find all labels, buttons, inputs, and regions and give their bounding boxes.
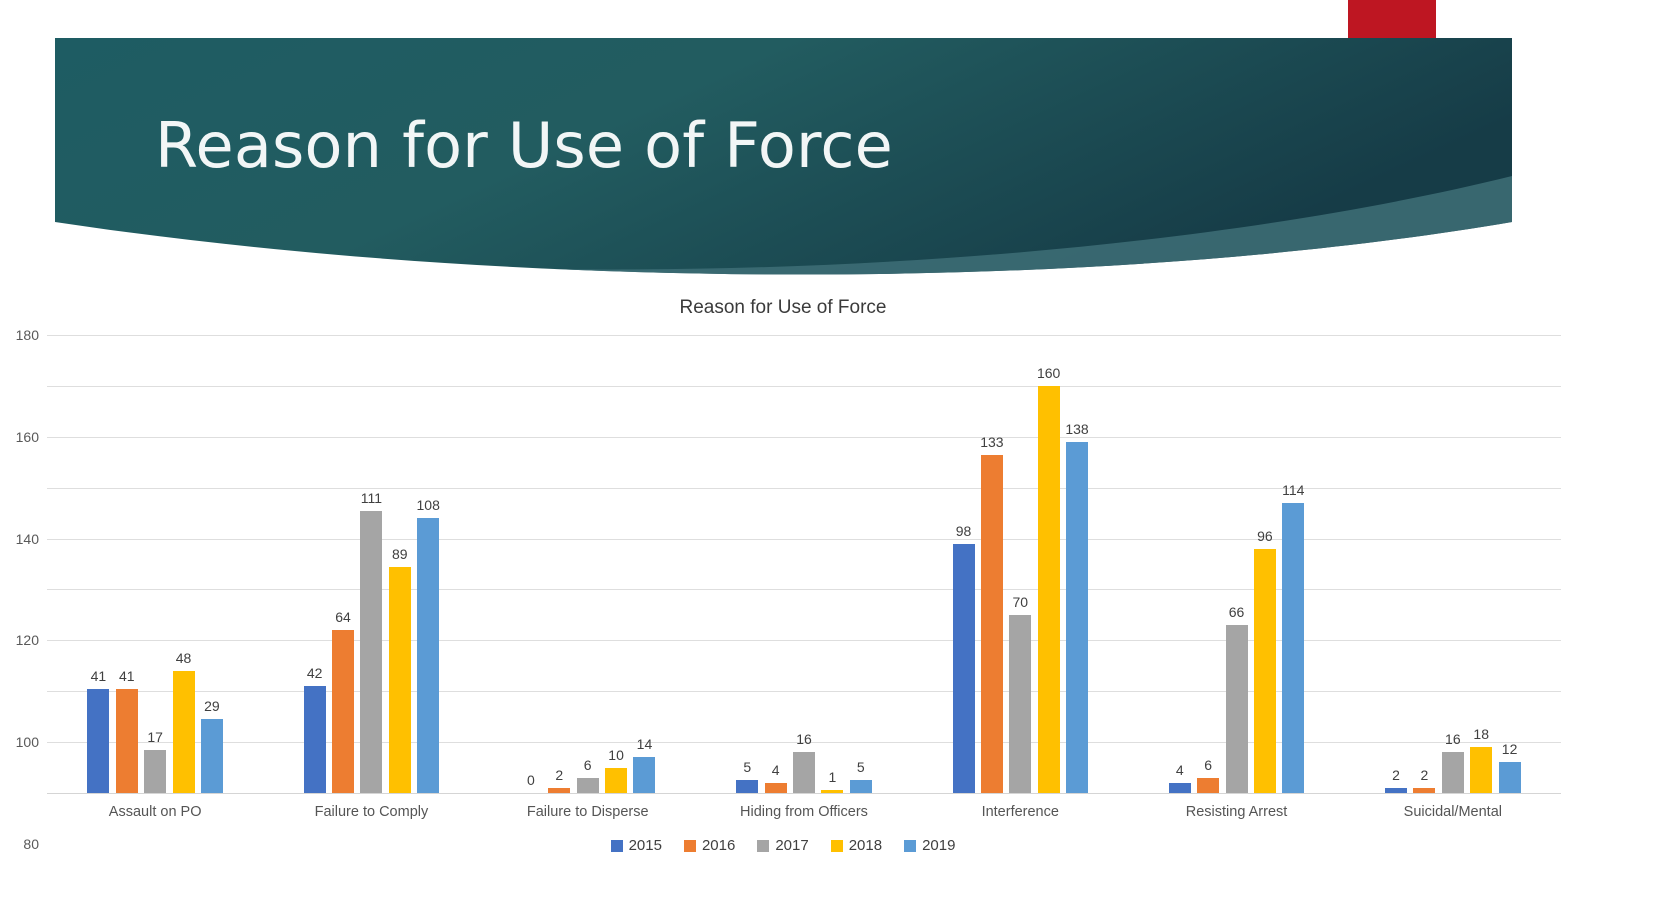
slide-header-banner: Reason for Use of Force bbox=[0, 0, 1666, 285]
chart-bar-value-label: 5 bbox=[743, 759, 751, 775]
slide: Reason for Use of Force Reason for Use o… bbox=[0, 0, 1666, 918]
chart-bar[interactable] bbox=[1254, 549, 1276, 793]
chart-x-axis-labels: Assault on POFailure to ComplyFailure to… bbox=[47, 804, 1561, 820]
chart-bar[interactable] bbox=[360, 511, 382, 793]
chart-bar-value-label: 14 bbox=[637, 736, 653, 752]
legend-swatch-icon bbox=[684, 840, 696, 852]
chart-bar-slot: 108 bbox=[417, 335, 439, 793]
chart-bar[interactable] bbox=[821, 790, 843, 793]
chart-bar-value-label: 0 bbox=[527, 772, 535, 788]
chart-bar-value-label: 108 bbox=[416, 497, 439, 513]
chart-bar-slot: 0 bbox=[520, 335, 542, 793]
chart-bar-slot: 2 bbox=[1385, 335, 1407, 793]
chart-bar-slot: 41 bbox=[116, 335, 138, 793]
x-axis-category-label: Suicidal/Mental bbox=[1345, 804, 1561, 820]
x-axis-category-label: Failure to Comply bbox=[263, 804, 479, 820]
legend-swatch-icon bbox=[904, 840, 916, 852]
chart-bar[interactable] bbox=[605, 768, 627, 793]
legend-swatch-icon bbox=[831, 840, 843, 852]
legend-swatch-icon bbox=[757, 840, 769, 852]
chart-bar-value-label: 5 bbox=[857, 759, 865, 775]
chart-bar-value-label: 2 bbox=[555, 767, 563, 783]
chart-axis-line: 0 bbox=[47, 793, 1561, 794]
legend-item-2019[interactable]: 2019 bbox=[904, 837, 955, 854]
chart-bar[interactable] bbox=[736, 780, 758, 793]
legend-swatch-icon bbox=[611, 840, 623, 852]
chart-bar-slot: 114 bbox=[1282, 335, 1304, 793]
chart-bar[interactable] bbox=[1470, 747, 1492, 793]
chart-bar-value-label: 16 bbox=[1445, 731, 1461, 747]
chart-bar-slot: 2 bbox=[1413, 335, 1435, 793]
chart-bar-value-label: 48 bbox=[176, 650, 192, 666]
chart-bar-slot: 6 bbox=[1197, 335, 1219, 793]
chart-bar[interactable] bbox=[953, 544, 975, 793]
chart-bar-value-label: 66 bbox=[1229, 604, 1245, 620]
chart-bar[interactable] bbox=[144, 750, 166, 793]
chart-bar[interactable] bbox=[1226, 625, 1248, 793]
chart-bar[interactable] bbox=[548, 788, 570, 793]
chart-bar-value-label: 70 bbox=[1012, 594, 1028, 610]
chart-bar[interactable] bbox=[417, 518, 439, 793]
chart-bar-slot: 1 bbox=[821, 335, 843, 793]
chart-bar-slot: 96 bbox=[1254, 335, 1276, 793]
chart-bar-value-label: 160 bbox=[1037, 365, 1060, 381]
page-title: Reason for Use of Force bbox=[155, 112, 893, 180]
legend-label: 2018 bbox=[849, 837, 882, 854]
chart-bar-slot: 111 bbox=[360, 335, 382, 793]
chart-bar-slot: 64 bbox=[332, 335, 354, 793]
chart-bar[interactable] bbox=[1282, 503, 1304, 793]
chart-bar[interactable] bbox=[304, 686, 326, 793]
chart-bar[interactable] bbox=[793, 752, 815, 793]
chart-bar-value-label: 98 bbox=[956, 523, 972, 539]
chart-bar-value-label: 41 bbox=[91, 668, 107, 684]
x-axis-category-label: Hiding from Officers bbox=[696, 804, 912, 820]
chart-bar-value-label: 1 bbox=[828, 769, 836, 785]
chart-bar-slot: 5 bbox=[850, 335, 872, 793]
chart-bar-value-label: 10 bbox=[608, 747, 624, 763]
chart-bar-group: 541615 bbox=[696, 335, 912, 793]
chart-bar-value-label: 96 bbox=[1257, 528, 1273, 544]
chart-bar-value-label: 6 bbox=[584, 757, 592, 773]
chart-bar-value-label: 4 bbox=[772, 762, 780, 778]
chart-bar-group: 426411189108 bbox=[263, 335, 479, 793]
chart-bar-value-label: 41 bbox=[119, 668, 135, 684]
chart-bar-slot: 48 bbox=[173, 335, 195, 793]
chart-bar-value-label: 6 bbox=[1204, 757, 1212, 773]
y-axis-tick-label: 120 bbox=[16, 632, 39, 648]
chart-bar-slot: 5 bbox=[736, 335, 758, 793]
legend-item-2016[interactable]: 2016 bbox=[684, 837, 735, 854]
legend-item-2017[interactable]: 2017 bbox=[757, 837, 808, 854]
chart-bar-group: 0261014 bbox=[480, 335, 696, 793]
chart-bar-group: 9813370160138 bbox=[912, 335, 1128, 793]
chart-bar[interactable] bbox=[173, 671, 195, 793]
chart-bar[interactable] bbox=[332, 630, 354, 793]
y-axis-tick-label: 180 bbox=[16, 327, 39, 343]
chart-bar-value-label: 64 bbox=[335, 609, 351, 625]
chart-bar-slot: 41 bbox=[87, 335, 109, 793]
bar-chart: Reason for Use of Force 0204060801001201… bbox=[0, 285, 1666, 918]
chart-bar[interactable] bbox=[1197, 778, 1219, 793]
chart-bar-groups: 4141174829426411189108026101454161598133… bbox=[47, 335, 1561, 793]
chart-bar[interactable] bbox=[1385, 788, 1407, 793]
chart-bar[interactable] bbox=[1442, 752, 1464, 793]
x-axis-category-label: Resisting Arrest bbox=[1128, 804, 1344, 820]
chart-bar-value-label: 2 bbox=[1392, 767, 1400, 783]
chart-bar-slot: 17 bbox=[144, 335, 166, 793]
y-axis-tick-label: 160 bbox=[16, 429, 39, 445]
legend-item-2018[interactable]: 2018 bbox=[831, 837, 882, 854]
chart-bar[interactable] bbox=[1413, 788, 1435, 793]
legend-label: 2019 bbox=[922, 837, 955, 854]
chart-bar-value-label: 133 bbox=[980, 434, 1003, 450]
chart-plot-area: 020406080100120140160180 414117482942641… bbox=[47, 335, 1561, 793]
chart-bar[interactable] bbox=[389, 567, 411, 793]
chart-bar-slot: 16 bbox=[793, 335, 815, 793]
chart-bar[interactable] bbox=[1038, 386, 1060, 793]
chart-bar-value-label: 114 bbox=[1282, 482, 1304, 498]
chart-bar-slot: 6 bbox=[577, 335, 599, 793]
chart-bar-value-label: 42 bbox=[307, 665, 323, 681]
chart-bar-value-label: 16 bbox=[796, 731, 812, 747]
chart-bar-slot: 133 bbox=[981, 335, 1003, 793]
chart-bar-slot: 66 bbox=[1226, 335, 1248, 793]
chart-bar-value-label: 29 bbox=[204, 698, 220, 714]
chart-bar-slot: 29 bbox=[201, 335, 223, 793]
chart-bar-slot: 70 bbox=[1009, 335, 1031, 793]
chart-bar-value-label: 138 bbox=[1065, 421, 1088, 437]
x-axis-category-label: Assault on PO bbox=[47, 804, 263, 820]
chart-bar[interactable] bbox=[87, 689, 109, 793]
chart-bar-slot: 98 bbox=[953, 335, 975, 793]
chart-bar-value-label: 111 bbox=[361, 490, 382, 506]
chart-bar-slot: 4 bbox=[765, 335, 787, 793]
legend-label: 2015 bbox=[629, 837, 662, 854]
chart-bar-slot: 10 bbox=[605, 335, 627, 793]
chart-bar[interactable] bbox=[116, 689, 138, 793]
chart-bar-slot: 2 bbox=[548, 335, 570, 793]
chart-bar[interactable] bbox=[1499, 762, 1521, 793]
chart-bar-slot: 16 bbox=[1442, 335, 1464, 793]
x-axis-category-label: Failure to Disperse bbox=[480, 804, 696, 820]
chart-bar[interactable] bbox=[1009, 615, 1031, 793]
chart-bar-group: 466696114 bbox=[1128, 335, 1344, 793]
chart-bar[interactable] bbox=[981, 455, 1003, 793]
chart-bar[interactable] bbox=[577, 778, 599, 793]
chart-bar-group: 4141174829 bbox=[47, 335, 263, 793]
x-axis-category-label: Interference bbox=[912, 804, 1128, 820]
chart-bar-value-label: 4 bbox=[1176, 762, 1184, 778]
chart-bar[interactable] bbox=[850, 780, 872, 793]
chart-bar-value-label: 17 bbox=[147, 729, 163, 745]
chart-bar-value-label: 2 bbox=[1421, 767, 1429, 783]
chart-bar[interactable] bbox=[201, 719, 223, 793]
chart-bar-slot: 14 bbox=[633, 335, 655, 793]
chart-bar-group: 22161812 bbox=[1345, 335, 1561, 793]
legend-label: 2016 bbox=[702, 837, 735, 854]
chart-bar-slot: 89 bbox=[389, 335, 411, 793]
chart-bar-slot: 12 bbox=[1499, 335, 1521, 793]
chart-bar-slot: 138 bbox=[1066, 335, 1088, 793]
chart-title: Reason for Use of Force bbox=[0, 297, 1566, 319]
chart-bar-slot: 160 bbox=[1038, 335, 1060, 793]
chart-bar[interactable] bbox=[1169, 783, 1191, 793]
chart-bar-value-label: 12 bbox=[1502, 741, 1518, 757]
chart-bar-slot: 18 bbox=[1470, 335, 1492, 793]
chart-bar-slot: 42 bbox=[304, 335, 326, 793]
chart-bar-slot: 4 bbox=[1169, 335, 1191, 793]
chart-bar[interactable] bbox=[1066, 442, 1088, 793]
y-axis-tick-label: 140 bbox=[16, 531, 39, 547]
chart-bar-value-label: 89 bbox=[392, 546, 408, 562]
legend-item-2015[interactable]: 2015 bbox=[611, 837, 662, 854]
chart-bar[interactable] bbox=[765, 783, 787, 793]
y-axis-tick-label: 100 bbox=[16, 734, 39, 750]
chart-bar[interactable] bbox=[633, 757, 655, 793]
chart-bar-value-label: 18 bbox=[1473, 726, 1489, 742]
legend-label: 2017 bbox=[775, 837, 808, 854]
chart-legend: 20152016201720182019 bbox=[0, 837, 1566, 854]
